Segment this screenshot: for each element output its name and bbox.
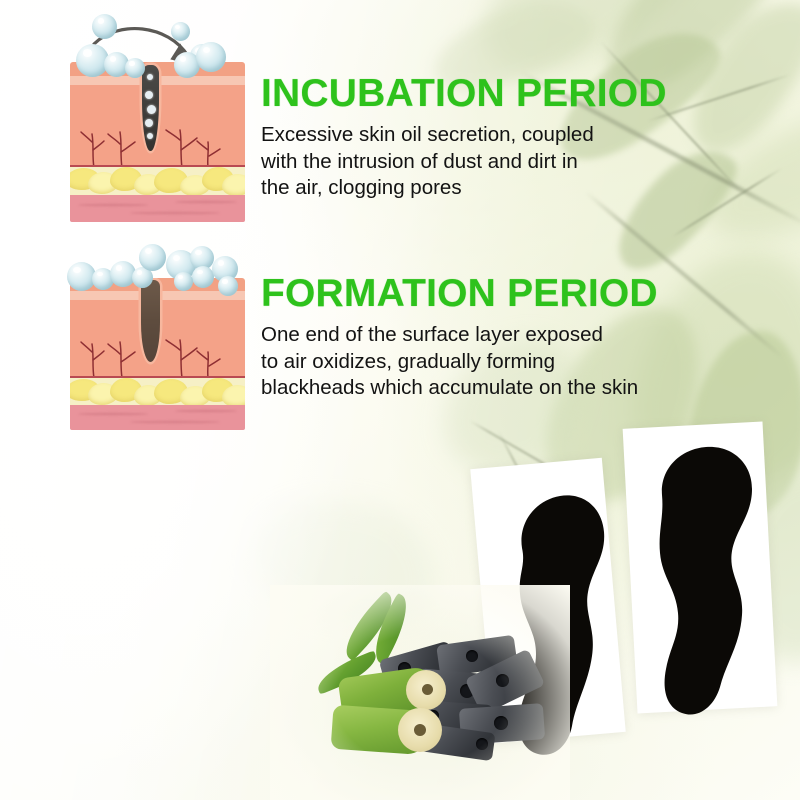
incubation-body-line: Excessive skin oil secretion, coupled (261, 122, 656, 149)
skin-block (70, 62, 245, 222)
muscle-layer (70, 195, 245, 222)
nose-strip-right (634, 433, 784, 723)
oil-bubble (196, 42, 226, 72)
oil-bubble (171, 22, 190, 41)
bamboo-charcoal-group (310, 610, 550, 775)
incubation-body: Excessive skin oil secretion, coupled wi… (261, 122, 656, 202)
formation-body-line: to air oxidizes, gradually forming (261, 349, 691, 376)
incubation-heading: INCUBATION PERIOD (261, 72, 667, 116)
oil-bubble (192, 266, 214, 288)
oil-bubble (174, 272, 193, 291)
skin-diagram-formation (70, 236, 245, 431)
oil-bubble (125, 58, 145, 78)
incubation-body-line: with the intrusion of dust and dirt in (261, 149, 656, 176)
oil-bubble (218, 276, 238, 296)
incubation-body-line: the air, clogging pores (261, 175, 656, 202)
blackhead-plug (141, 280, 160, 362)
formation-body: One end of the surface layer exposed to … (261, 322, 691, 402)
product-photo (300, 415, 800, 800)
oil-bubble (139, 244, 166, 271)
skin-block (70, 278, 245, 430)
oil-bubble (92, 14, 117, 39)
formation-heading: FORMATION PERIOD (261, 272, 658, 316)
muscle-layer (70, 405, 245, 430)
formation-body-line: One end of the surface layer exposed (261, 322, 691, 349)
product-infographic-poster: INCUBATION PERIOD Excessive skin oil sec… (0, 0, 800, 800)
skin-diagram-incubation (70, 0, 245, 230)
formation-body-line: blackheads which accumulate on the skin (261, 375, 691, 402)
